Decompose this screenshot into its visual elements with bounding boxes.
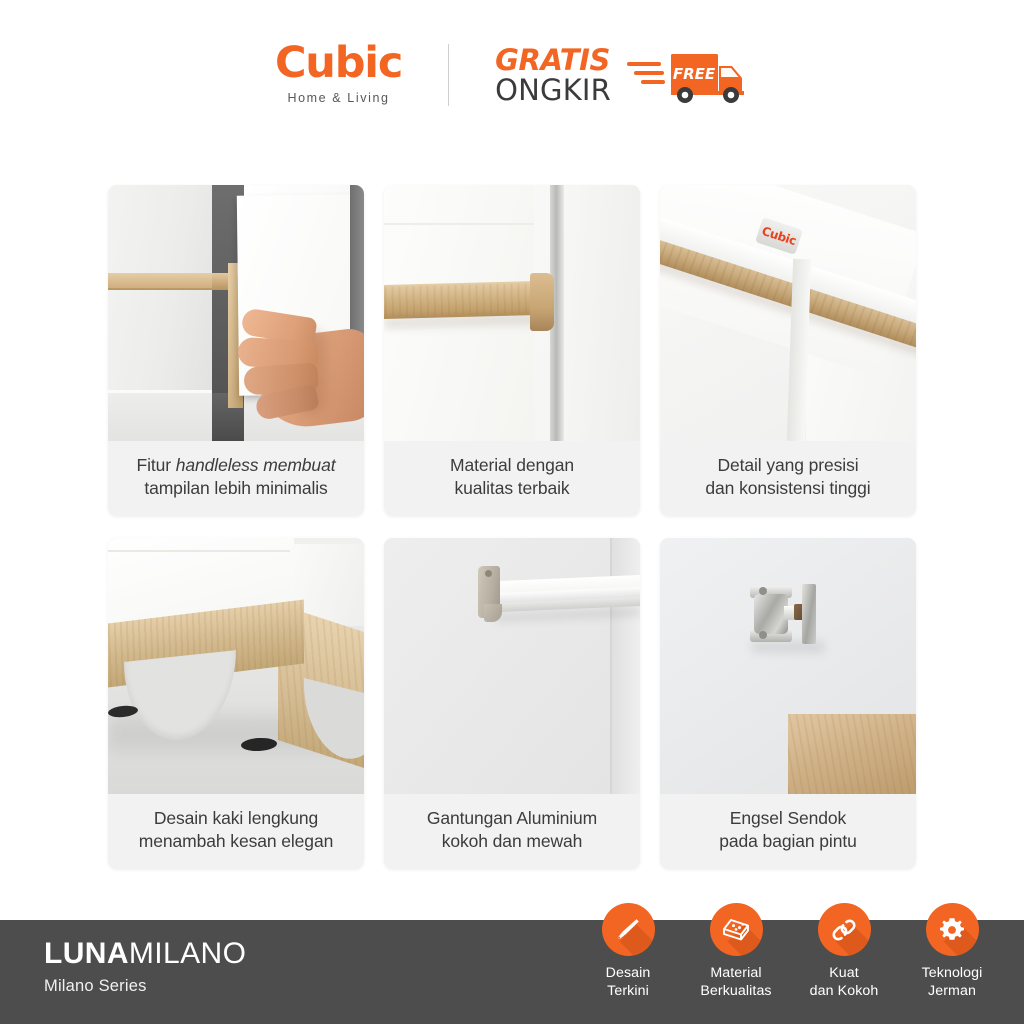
paintbrush-icon: [613, 915, 643, 945]
feature-label-line-1: Kuat: [829, 965, 859, 981]
caption-line-1: Detail yang presisi: [717, 455, 858, 475]
product-title-block: LUNAMILANO Milano Series: [44, 938, 246, 996]
feature-label-desain: Desain Terkini: [606, 965, 651, 1001]
feature-icon-circle: [818, 903, 871, 956]
card-photo-wooden-rail: [384, 185, 640, 441]
footer-feature-desain[interactable]: Desain Terkini: [580, 903, 676, 1001]
feature-label-line-2: Terkini: [607, 983, 649, 999]
feature-icon-circle: [710, 903, 763, 956]
feature-label-line-2: Berkualitas: [700, 983, 771, 999]
feature-card-5[interactable]: Gantungan Aluminium kokoh dan mewah: [384, 538, 640, 869]
card-caption-1: Fitur handleless membuat tampilan lebih …: [108, 441, 364, 516]
footer-feature-material[interactable]: Material Berkualitas: [688, 903, 784, 1001]
feature-label-line-1: Desain: [606, 965, 651, 981]
feature-icon-circle: [602, 903, 655, 956]
caption-line-2: kualitas terbaik: [454, 478, 569, 498]
card-caption-5: Gantungan Aluminium kokoh dan mewah: [384, 794, 640, 869]
card-photo-curved-leg: [108, 538, 364, 794]
footer-feature-list: Desain Terkini Material Berkualitas: [580, 903, 1000, 1001]
card-caption-6: Engsel Sendok pada bagian pintu: [660, 794, 916, 869]
feature-card-2[interactable]: Material dengan kualitas terbaik: [384, 185, 640, 516]
caption-line-1: Desain kaki lengkung: [154, 808, 318, 828]
caption-pre: Fitur: [137, 455, 176, 475]
footer-feature-teknologi[interactable]: Teknologi Jerman: [904, 903, 1000, 1001]
caption-line-2: pada bagian pintu: [719, 831, 856, 851]
caption-emphasis: handleless membuat: [176, 455, 336, 475]
feature-label-material: Material Berkualitas: [700, 965, 771, 1001]
product-name-light: MILANO: [129, 937, 246, 970]
card-caption-3: Detail yang presisi dan konsistensi ting…: [660, 441, 916, 516]
feature-card-grid: Fitur handleless membuat tampilan lebih …: [108, 185, 916, 869]
feature-card-1[interactable]: Fitur handleless membuat tampilan lebih …: [108, 185, 364, 516]
feature-card-6[interactable]: Engsel Sendok pada bagian pintu: [660, 538, 916, 869]
brand-name: Cubic: [275, 42, 402, 85]
brand-tagline: Home & Living: [287, 91, 389, 105]
caption-post: tampilan lebih minimalis: [144, 478, 327, 498]
card-photo-precision-edge: Cubic: [660, 185, 916, 441]
caption-line-2: menambah kesan elegan: [139, 831, 333, 851]
header: Cubic Home & Living GRATIS ONGKIR: [0, 0, 1024, 150]
card-caption-2: Material dengan kualitas terbaik: [384, 441, 640, 516]
gear-icon: [937, 915, 967, 945]
free-shipping-badge: GRATIS ONGKIR FRE: [495, 46, 749, 105]
caption-line-2: kokoh dan mewah: [442, 831, 583, 851]
caption-line-2: dan konsistensi tinggi: [705, 478, 870, 498]
feature-label-line-1: Teknologi: [922, 965, 983, 981]
feature-icon-circle: [926, 903, 979, 956]
product-series: Milano Series: [44, 977, 246, 996]
product-title: LUNAMILANO: [44, 938, 246, 970]
truck-free-label: FREE: [673, 65, 716, 83]
feature-label-line-2: Jerman: [928, 983, 976, 999]
cubic-sticker-text: Cubic: [760, 224, 798, 248]
feature-label-teknologi: Teknologi Jerman: [922, 965, 983, 1001]
header-divider: [448, 44, 449, 106]
caption-line-1: Gantungan Aluminium: [427, 808, 597, 828]
feature-label-line-2: dan Kokoh: [810, 983, 879, 999]
footer-feature-kuat[interactable]: Kuat dan Kokoh: [796, 903, 892, 1001]
delivery-truck-icon: FREE: [627, 46, 749, 104]
feature-card-3[interactable]: Cubic Detail yang presisi dan konsistens…: [660, 185, 916, 516]
product-name-bold: LUNA: [44, 937, 129, 970]
feature-label-line-1: Material: [710, 965, 761, 981]
card-photo-aluminium-rod: [384, 538, 640, 794]
card-photo-handleless-door: [108, 185, 364, 441]
chain-link-icon: [829, 915, 859, 945]
brand-logo: Cubic Home & Living: [275, 42, 402, 109]
caption-line-1: Material dengan: [450, 455, 574, 475]
shipping-line-2: ONGKIR: [495, 76, 611, 104]
board-icon: [720, 915, 752, 945]
cup-hinge-icon: [750, 584, 826, 646]
infographic-page: Cubic Home & Living GRATIS ONGKIR: [0, 0, 1024, 1024]
hand-illustration: [236, 295, 364, 441]
card-photo-cup-hinge: [660, 538, 916, 794]
card-caption-4: Desain kaki lengkung menambah kesan eleg…: [108, 794, 364, 869]
feature-card-4[interactable]: Desain kaki lengkung menambah kesan eleg…: [108, 538, 364, 869]
free-shipping-text: GRATIS ONGKIR: [495, 46, 611, 105]
caption-line-1: Engsel Sendok: [730, 808, 846, 828]
shipping-line-1: GRATIS: [495, 46, 611, 74]
feature-label-kuat: Kuat dan Kokoh: [810, 965, 879, 1001]
